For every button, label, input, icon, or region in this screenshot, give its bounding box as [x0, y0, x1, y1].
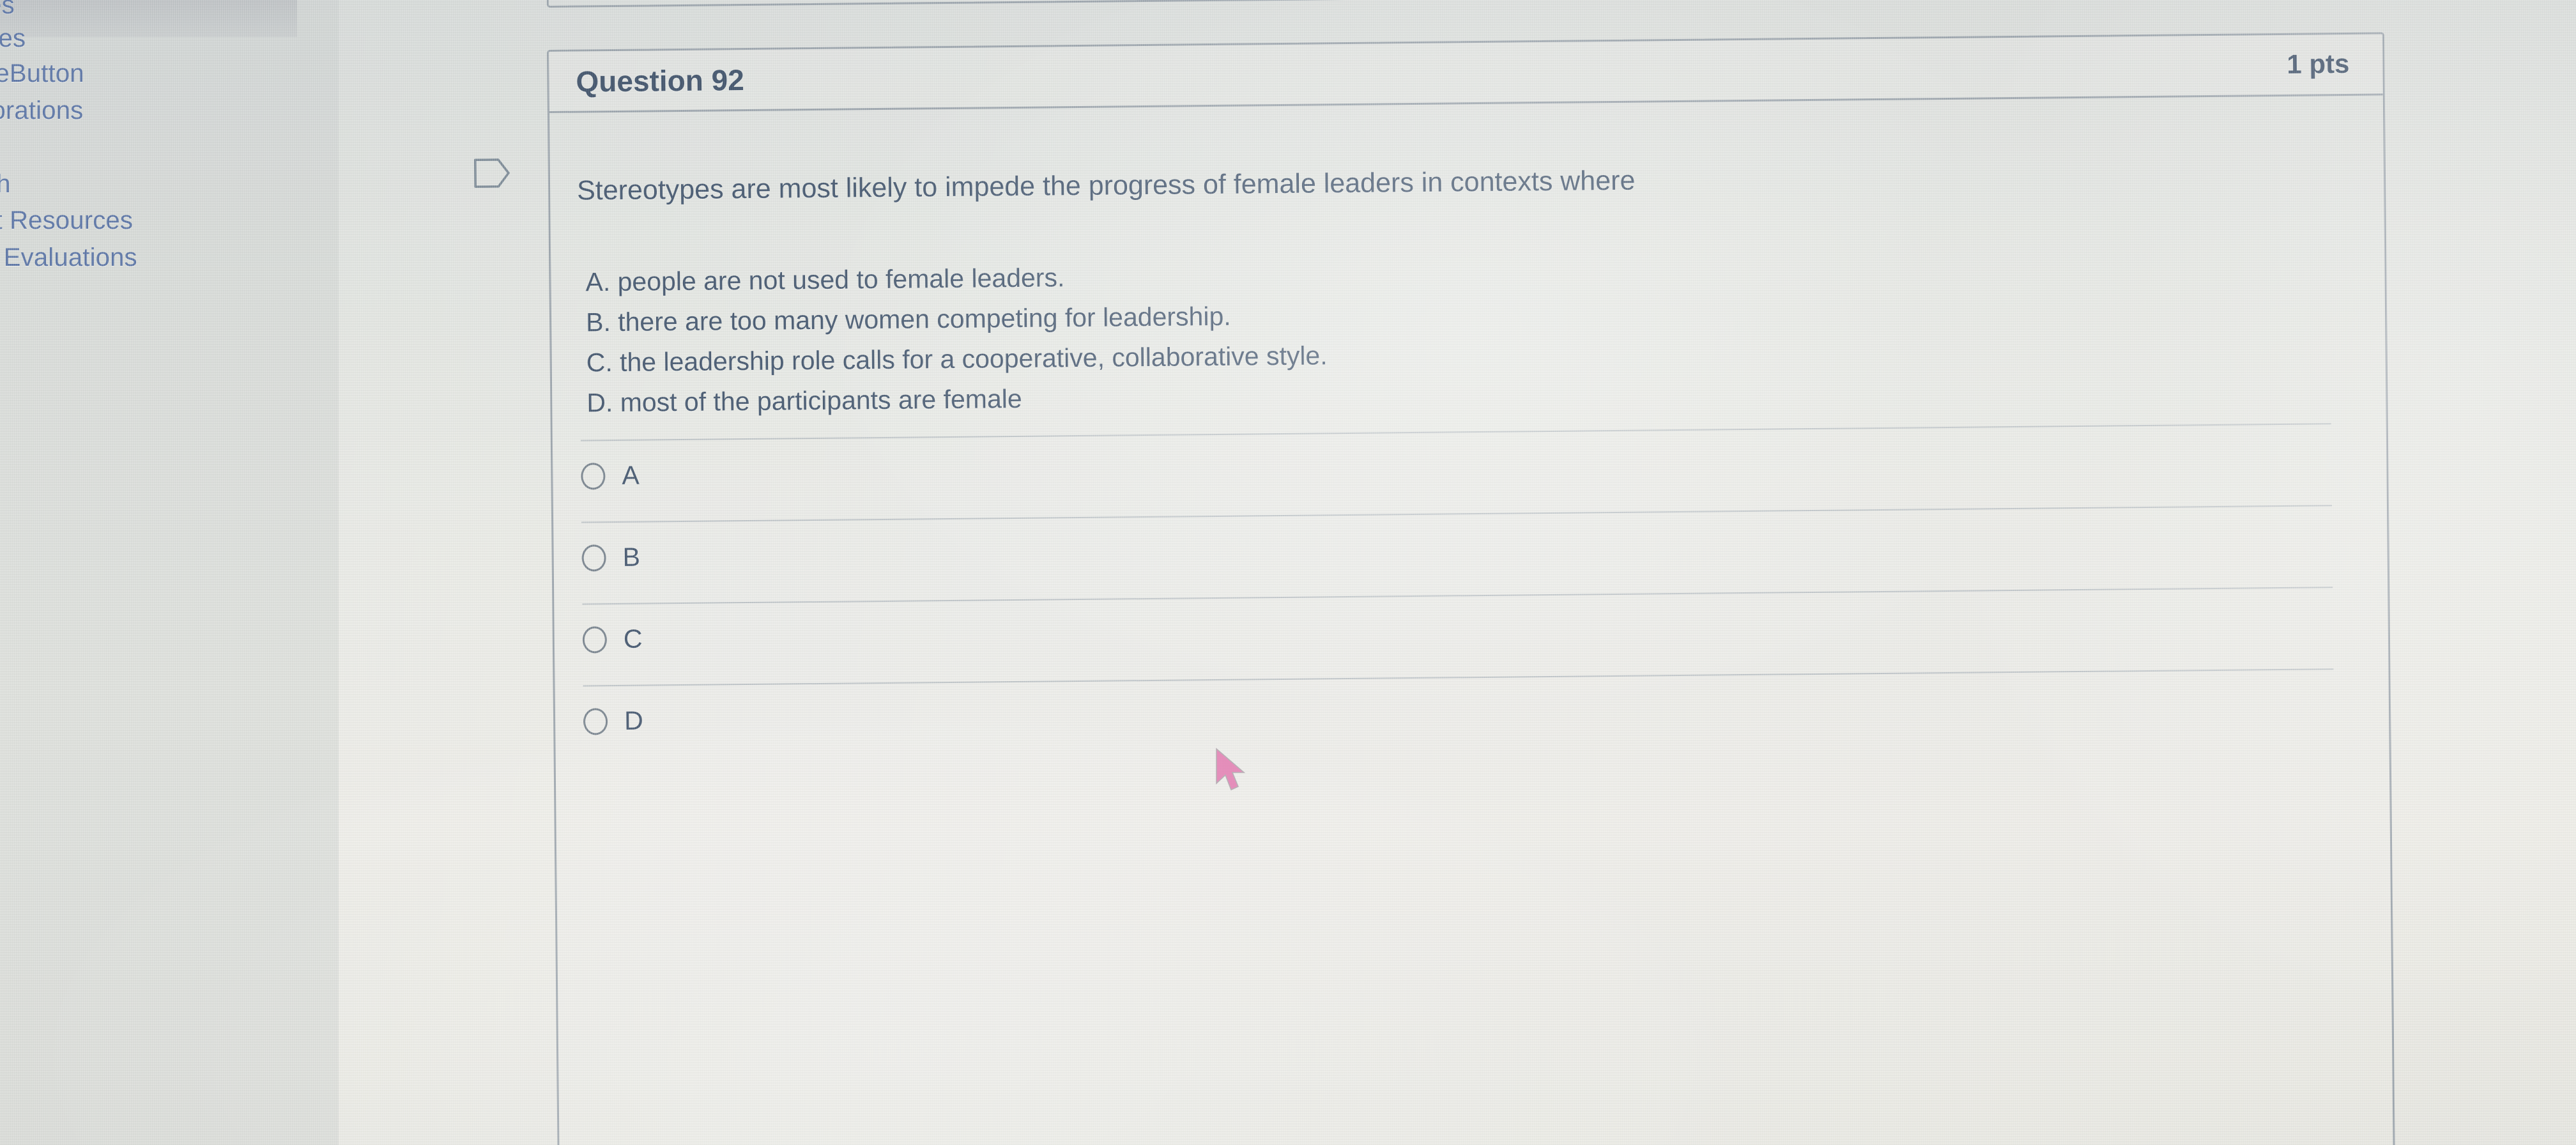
question-card: Question 92 1 pts Stereotypes are most l…: [547, 32, 2395, 1145]
question-choice-text-d: D. most of the participants are female: [586, 384, 1022, 419]
sidebar-item-bluebutton[interactable]: ueButton: [0, 59, 84, 88]
sidebar-item-flash[interactable]: sh: [0, 170, 11, 199]
answer-label-b: B: [622, 542, 640, 572]
mouse-pointer-cursor: [1213, 746, 1251, 795]
question-choice-text-b: B. there are too many women competing fo…: [586, 302, 1231, 338]
course-navigation-sidebar: zes ules ueButton porations sh nt Resour…: [0, 0, 339, 1145]
answer-option-d[interactable]: D: [583, 706, 643, 737]
sidebar-item-collaborations[interactable]: porations: [0, 96, 83, 125]
sidebar-item-course-evaluations[interactable]: e Evaluations: [0, 243, 137, 272]
question-choice-text-c: C. the leadership role calls for a coope…: [586, 341, 1327, 378]
answer-separator: [581, 505, 2332, 523]
answer-separator: [582, 587, 2333, 604]
question-title: Question 92: [576, 63, 744, 99]
answer-label-d: D: [624, 706, 643, 736]
answer-label-a: A: [622, 461, 640, 491]
radio-button-d[interactable]: [583, 708, 608, 735]
answer-option-c[interactable]: C: [583, 624, 643, 655]
radio-button-a[interactable]: [581, 463, 605, 489]
sidebar-item-quizzes[interactable]: zes: [0, 0, 15, 20]
sidebar-item-modules[interactable]: ules: [0, 24, 26, 53]
answer-option-b[interactable]: B: [581, 542, 640, 573]
question-points-badge: 1 pts: [2287, 49, 2349, 80]
answer-option-a[interactable]: A: [581, 461, 640, 491]
answer-separator: [583, 668, 2334, 686]
bookmark-flag-icon[interactable]: [473, 153, 513, 194]
radio-button-c[interactable]: [583, 626, 607, 653]
sidebar-active-highlight: [0, 0, 297, 37]
radio-button-b[interactable]: [581, 544, 606, 571]
answer-label-c: C: [624, 624, 643, 654]
answer-separator: [581, 423, 2331, 441]
question-choice-text-a: A. people are not used to female leaders…: [585, 263, 1064, 297]
question-stem-text: Stereotypes are most likely to impede th…: [577, 165, 1636, 207]
sidebar-item-student-resources[interactable]: nt Resources: [0, 206, 133, 235]
